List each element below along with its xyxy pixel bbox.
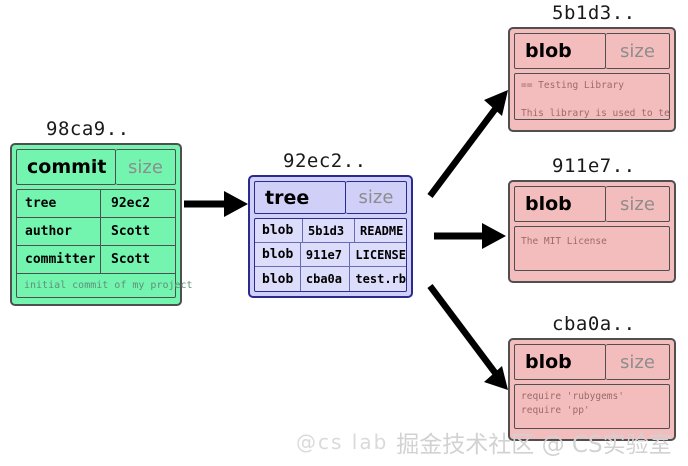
commit-message: initial commit of my project [17,274,175,297]
table-row: tree 92ec2 [17,190,175,218]
blob-object-cba0a: blob size require 'rubygems' require 'pp… [508,338,676,441]
tree-entry-hash: 911e7 [301,243,351,266]
watermark-handle: @cs lab [296,430,388,454]
commit-object: commit size tree 92ec2 author Scott comm… [10,143,182,306]
table-row: blob cba0a test.rb [255,267,406,291]
commit-hash-label: 98ca9.. [46,118,130,140]
tree-entry-type: blob [255,219,303,242]
table-row: blob 5b1d3 README [255,219,406,243]
blob-object-5b1d3: blob size == Testing Library This librar… [508,27,676,132]
commit-field-value: Scott [101,246,175,273]
commit-field-key: tree [17,190,101,217]
tree-type-label: tree [254,181,346,214]
commit-field-value: Scott [101,218,175,245]
tree-object: tree size blob 5b1d3 README blob 911e7 L… [248,175,413,298]
git-object-model-diagram: 98ca9.. commit size tree 92ec2 author Sc… [0,0,688,466]
blob-911e7-hash-label: 911e7.. [552,155,636,177]
tree-entry-name: test.rb [350,267,406,291]
tree-entry-hash: cba0a [301,267,351,291]
blob-object-911e7: blob size The MIT License Copyright (c) … [508,180,676,283]
tree-entry-hash: 5b1d3 [303,219,355,242]
blob-size-label: size [606,33,670,69]
tree-entry-name: README [355,219,406,242]
blob-content-text: == Testing Library This library is used … [521,79,663,120]
commit-type-label: commit [16,149,116,185]
blob-content-area: require 'rubygems' require 'pp' module T… [514,384,670,429]
blob-content-area: The MIT License Copyright (c) <year> <co… [514,226,670,271]
blob-type-label: blob [514,344,606,380]
blob-content-text: require 'rubygems' require 'pp' module T… [521,390,663,429]
blob-type-label: blob [514,186,606,222]
tree-header: tree size [254,181,407,214]
table-row: committer Scott [17,246,175,274]
blob-content-area: == Testing Library This library is used … [514,73,670,120]
tree-hash-label: 92ec2.. [283,150,367,172]
arrow-tree-to-blob-5b1d3-icon [424,86,514,202]
commit-size-label: size [116,149,176,185]
tree-entry-name: LICENSE [350,243,406,266]
blob-5b1d3-hash-label: 5b1d3.. [552,2,636,24]
blob-header: blob size [514,33,670,69]
blob-type-label: blob [514,33,606,69]
blob-cba0a-hash-label: cba0a.. [552,313,636,335]
table-row: author Scott [17,218,175,246]
arrow-tree-to-blob-cba0a-icon [424,278,514,394]
commit-header: commit size [16,149,176,185]
tree-entries-table: blob 5b1d3 README blob 911e7 LICENSE blo… [254,218,407,292]
commit-field-value: 92ec2 [101,190,175,217]
blob-size-label: size [606,186,670,222]
arrow-tree-to-blob-911e7-icon [432,218,510,254]
commit-field-key: committer [17,246,101,273]
commit-field-key: author [17,218,101,245]
arrow-commit-to-tree-icon [182,186,252,222]
tree-size-label: size [346,181,407,214]
blob-header: blob size [514,344,670,380]
blob-size-label: size [606,344,670,380]
commit-fields-table: tree 92ec2 author Scott committer Scott … [16,189,176,298]
blob-header: blob size [514,186,670,222]
blob-content-text: The MIT License Copyright (c) <year> <co… [521,232,663,271]
table-row: blob 911e7 LICENSE [255,243,406,267]
tree-entry-type: blob [255,267,301,291]
tree-entry-type: blob [255,243,301,266]
